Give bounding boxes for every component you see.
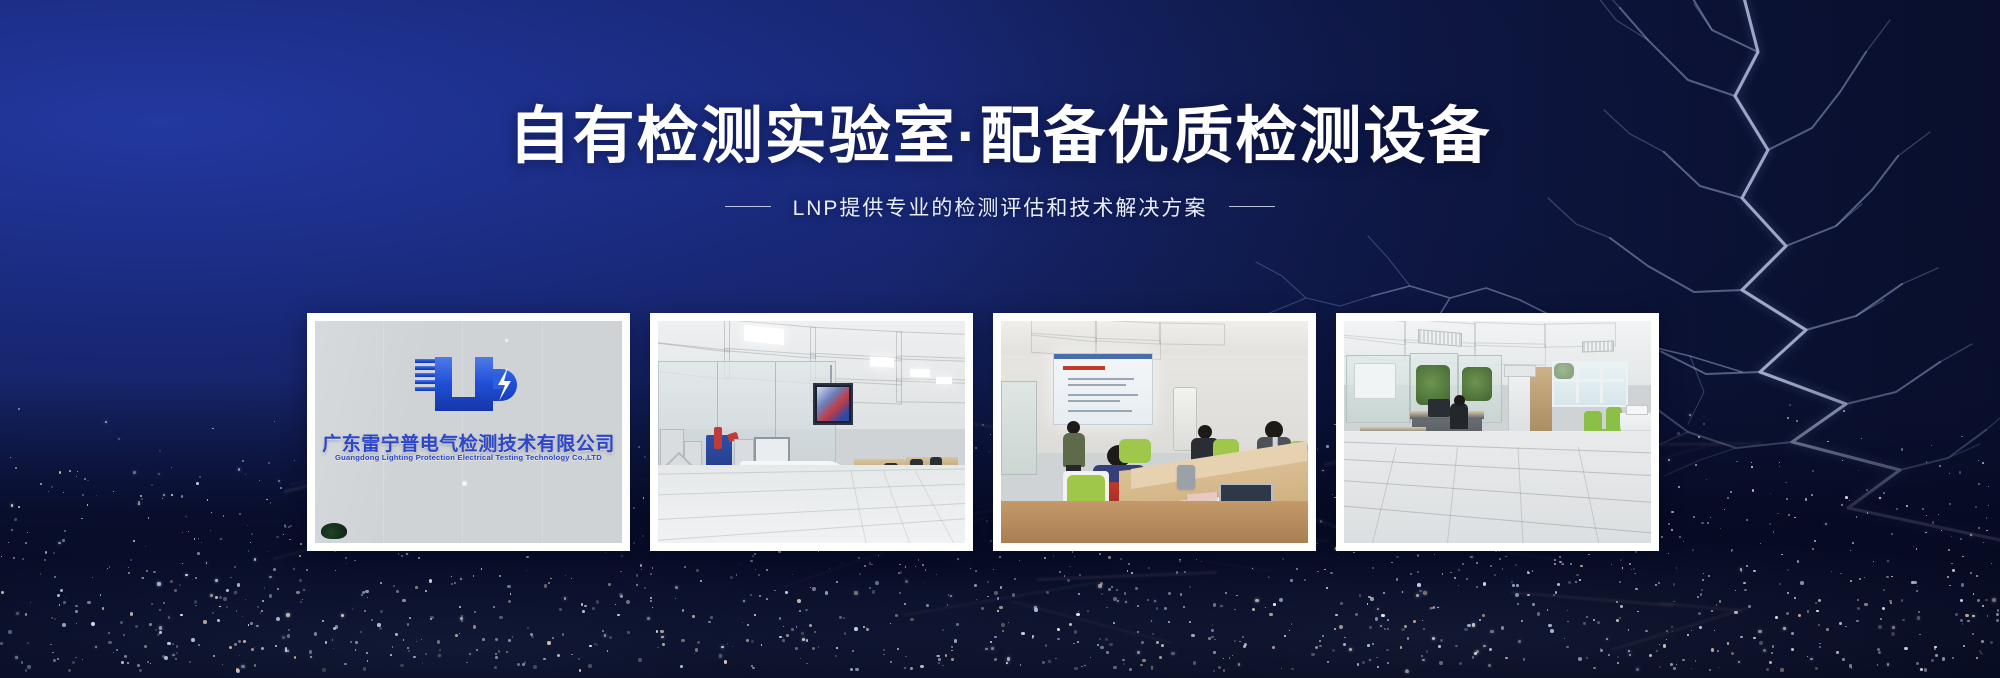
city-light-dot [1887, 560, 1889, 562]
city-light-dot [108, 641, 111, 644]
city-light-dot [75, 610, 78, 613]
city-light-dot [124, 655, 127, 658]
city-light-dot [185, 516, 187, 518]
city-light-dot [1279, 598, 1283, 602]
city-light-dot [1000, 586, 1003, 589]
city-light-dot [137, 664, 140, 667]
city-light-dot [1440, 639, 1443, 642]
city-light-dot [872, 590, 875, 593]
city-light-dot [1417, 583, 1421, 587]
city-light-dot [64, 530, 66, 532]
city-light-dot [1849, 664, 1853, 668]
city-light-dot [1433, 606, 1436, 609]
city-light-dot [1417, 554, 1420, 557]
city-light-dot [1788, 514, 1790, 516]
city-light-dot [956, 623, 959, 626]
city-light-dot [466, 662, 467, 663]
city-light-dot [1982, 605, 1984, 607]
city-light-dot [87, 480, 88, 481]
city-light-dot [974, 584, 977, 587]
city-light-dot [167, 642, 170, 645]
city-light-dot [1931, 659, 1934, 662]
city-light-dot [920, 665, 923, 668]
city-light-dot [1311, 653, 1314, 656]
city-light-dot [62, 623, 66, 627]
city-light-dot [1620, 559, 1622, 561]
city-light-dot [1189, 621, 1191, 623]
city-light-dot [182, 563, 184, 565]
city-light-dot [1002, 630, 1005, 633]
city-light-dot [750, 560, 752, 562]
city-light-dot [1459, 662, 1462, 665]
city-light-dot [517, 663, 520, 666]
city-light-dot [641, 569, 642, 570]
city-light-dot [1343, 643, 1346, 646]
city-light-dot [141, 498, 143, 500]
city-light-dot [159, 631, 162, 634]
city-light-dot [77, 471, 78, 472]
city-light-dot [159, 626, 162, 629]
city-light-dot [332, 639, 334, 641]
city-light-dot [1986, 530, 1988, 532]
city-light-dot [1008, 622, 1009, 623]
city-light-dot [795, 647, 798, 650]
city-light-dot [1891, 632, 1895, 636]
city-light-dot [1201, 561, 1202, 562]
city-light-dot [1845, 496, 1848, 499]
city-light-dot [107, 568, 108, 569]
city-light-dot [684, 566, 686, 568]
city-light-dot [814, 631, 816, 633]
tv-mount-arm [830, 365, 832, 385]
city-light-dot [1413, 620, 1416, 623]
city-light-dot [95, 646, 97, 648]
city-light-dot [100, 594, 102, 596]
city-light-dot [617, 614, 620, 617]
city-light-dot [1970, 572, 1972, 574]
city-light-dot [413, 656, 416, 659]
city-light-dot [1985, 599, 1987, 601]
city-light-dot [1272, 646, 1274, 648]
city-light-dot [1864, 577, 1865, 578]
city-light-dot [1580, 565, 1583, 568]
city-light-dot [1220, 605, 1222, 607]
city-light-dot [1852, 542, 1854, 544]
city-light-dot [1470, 556, 1472, 558]
city-light-dot [1826, 628, 1829, 631]
city-light-dot [957, 558, 959, 560]
city-light-dot [754, 614, 756, 616]
city-light-dot [1042, 661, 1045, 664]
city-light-dot [1867, 512, 1868, 513]
city-light-dot [1151, 668, 1153, 670]
city-light-dot [605, 552, 606, 553]
city-light-dot [1281, 668, 1283, 670]
city-light-dot [1691, 630, 1692, 631]
city-light-dot [1097, 644, 1099, 646]
city-light-dot [172, 643, 174, 645]
city-light-dot [174, 589, 176, 591]
city-light-dot [355, 649, 357, 651]
city-light-dot [219, 596, 222, 599]
city-light-dot [254, 558, 256, 560]
city-light-dot [1746, 565, 1748, 567]
city-light-dot [1120, 558, 1122, 560]
city-light-dot [1949, 585, 1951, 587]
city-light-dot [1716, 604, 1718, 606]
city-light-dot [65, 597, 66, 598]
city-light-dot [51, 486, 53, 488]
city-light-dot [176, 652, 178, 654]
city-light-dot [139, 669, 142, 672]
city-light-dot [82, 494, 84, 496]
city-light-dot [609, 636, 612, 639]
city-light-dot [1057, 638, 1060, 641]
city-light-dot [1291, 623, 1293, 625]
city-light-dot [379, 627, 382, 630]
city-light-dot [550, 578, 552, 580]
city-light-dot [1564, 638, 1565, 639]
city-light-dot [262, 600, 264, 602]
city-light-dot [904, 603, 906, 605]
city-light-dot [59, 471, 62, 474]
city-light-dot [1730, 491, 1732, 493]
city-light-dot [1934, 648, 1936, 650]
city-light-dot [1634, 573, 1635, 574]
city-light-dot [608, 583, 611, 586]
city-light-dot [774, 590, 776, 592]
city-light-dot [1020, 664, 1021, 665]
city-light-dot [1775, 616, 1779, 620]
city-light-dot [1140, 664, 1143, 667]
city-light-dot [1074, 556, 1075, 557]
city-light-dot [1877, 648, 1880, 651]
city-light-dot [1515, 593, 1519, 597]
city-light-dot [1142, 659, 1146, 663]
city-light-dot [1349, 648, 1352, 651]
gallery-card-office[interactable] [1336, 313, 1659, 551]
city-light-dot [562, 633, 565, 636]
city-light-dot [1559, 561, 1562, 564]
city-light-dot [779, 636, 781, 638]
city-light-dot [425, 653, 427, 655]
city-light-dot [1370, 597, 1374, 601]
city-light-dot [1255, 599, 1258, 602]
city-light-dot [213, 655, 215, 657]
city-light-dot [133, 540, 135, 542]
city-light-dot [1422, 620, 1424, 622]
city-light-dot [1376, 657, 1377, 658]
projector-screen [1053, 353, 1153, 425]
city-light-dot [588, 664, 592, 668]
city-light-dot [1763, 649, 1766, 652]
city-light-dot [1326, 587, 1328, 589]
city-light-dot [234, 591, 237, 594]
city-light-dot [1635, 588, 1637, 590]
city-light-dot [454, 582, 456, 584]
city-light-dot [947, 604, 948, 605]
city-light-dot [1074, 667, 1077, 670]
city-light-dot [1649, 654, 1652, 657]
city-light-dot [1818, 599, 1822, 603]
city-light-dot [288, 629, 290, 631]
city-light-dot [801, 632, 805, 636]
photo-laboratory [658, 321, 965, 543]
city-light-dot [1731, 652, 1735, 656]
city-light-dot [293, 568, 295, 570]
city-light-dot [1576, 574, 1579, 577]
city-light-dot [1490, 565, 1492, 567]
city-light-dot [1812, 548, 1814, 550]
city-light-dot [8, 542, 9, 543]
city-light-dot [836, 647, 839, 650]
city-light-dot [1007, 657, 1010, 660]
city-light-dot [473, 575, 474, 576]
city-light-dot [1125, 601, 1127, 603]
city-light-dot [168, 616, 170, 618]
city-light-dot [1012, 593, 1015, 596]
city-light-dot [75, 657, 77, 659]
city-light-dot [1265, 607, 1266, 608]
gallery-card-logo-wall[interactable]: 广东雷宁普电气检测技术有限公司 Guangdong Lighting Prote… [307, 313, 630, 551]
city-light-dot [844, 632, 846, 634]
city-light-dot [254, 664, 257, 667]
city-light-dot [1442, 573, 1444, 575]
photo-meeting-room [1001, 321, 1308, 543]
city-light-dot [1019, 560, 1020, 561]
city-light-dot [792, 574, 793, 575]
city-light-dot [602, 630, 604, 632]
city-light-dot [812, 647, 815, 650]
city-light-dot [878, 555, 879, 556]
city-light-dot [987, 596, 989, 598]
city-light-dot [1843, 410, 1845, 412]
city-light-dot [210, 530, 211, 531]
city-light-dot [1977, 599, 1980, 602]
city-light-dot [1825, 523, 1827, 525]
city-light-dot [508, 600, 511, 603]
city-light-dot [1789, 404, 1791, 406]
city-light-dot [905, 656, 907, 658]
city-light-dot [1619, 617, 1621, 619]
city-light-dot [256, 625, 258, 627]
city-light-dot [150, 663, 151, 664]
city-light-dot [1419, 590, 1422, 593]
city-light-dot [220, 538, 222, 540]
city-light-dot [215, 579, 218, 582]
city-light-dot [451, 583, 453, 585]
city-light-dot [636, 584, 638, 586]
city-light-dot [779, 617, 781, 619]
city-light-dot [751, 640, 755, 644]
desktop-monitor [1428, 399, 1450, 417]
city-light-dot [236, 610, 238, 612]
city-light-dot [1752, 489, 1755, 492]
city-light-dot [1841, 504, 1843, 506]
city-light-dot [1887, 663, 1889, 665]
city-light-dot [120, 621, 124, 625]
city-light-dot [854, 591, 858, 595]
city-light-dot [1557, 583, 1560, 586]
lnp-logo-icon [409, 351, 529, 417]
city-light-dot [750, 594, 752, 596]
city-light-dot [248, 624, 250, 626]
city-light-dot [352, 608, 353, 609]
city-light-dot [1229, 657, 1230, 658]
city-light-dot [198, 644, 200, 646]
city-light-dot [1698, 612, 1701, 615]
city-light-dot [1593, 667, 1595, 669]
city-light-dot [1896, 508, 1898, 510]
city-light-dot [650, 600, 652, 602]
city-light-dot [1736, 461, 1737, 462]
city-light-dot [159, 450, 161, 452]
city-light-dot [344, 663, 347, 666]
city-light-dot [582, 610, 585, 613]
city-light-dot [188, 531, 189, 532]
city-light-dot [584, 605, 587, 608]
city-light-dot [1141, 641, 1144, 644]
city-light-dot [526, 556, 529, 559]
city-light-dot [153, 571, 155, 573]
city-light-dot [564, 597, 567, 600]
door [1001, 381, 1037, 475]
city-light-dot [1796, 420, 1798, 422]
city-light-dot [1, 556, 2, 557]
city-light-dot [1317, 571, 1318, 572]
city-light-dot [1819, 643, 1820, 644]
city-light-dot [1562, 563, 1564, 565]
city-light-dot [890, 661, 892, 663]
city-light-dot [1659, 644, 1660, 645]
city-light-dot [854, 627, 858, 631]
city-light-dot [736, 574, 738, 576]
city-light-dot [1976, 657, 1978, 659]
city-light-dot [997, 610, 999, 612]
gallery-card-laboratory[interactable] [650, 313, 973, 551]
city-light-dot [1193, 661, 1196, 664]
city-light-dot [63, 601, 66, 604]
city-light-dot [1740, 636, 1743, 639]
city-light-dot [1087, 610, 1089, 612]
city-light-dot [1499, 558, 1501, 560]
city-light-dot [1439, 661, 1443, 665]
city-light-dot [499, 575, 501, 577]
city-light-dot [1916, 590, 1918, 592]
city-light-dot [1678, 486, 1680, 488]
city-light-dot [732, 646, 734, 648]
city-light-dot [1597, 621, 1600, 624]
city-light-dot [1566, 646, 1569, 649]
city-light-dot [1917, 586, 1918, 587]
city-light-dot [1746, 519, 1748, 521]
city-light-dot [1727, 497, 1729, 499]
city-light-dot [1913, 546, 1914, 547]
city-light-dot [1423, 628, 1426, 631]
city-light-dot [806, 639, 809, 642]
city-light-dot [1045, 644, 1048, 647]
city-light-dot [1668, 523, 1670, 525]
city-light-dot [459, 606, 461, 608]
city-light-dot [1273, 603, 1276, 606]
city-light-dot [1849, 500, 1850, 501]
city-light-dot [1213, 651, 1216, 654]
city-light-dot [1462, 563, 1464, 565]
city-light-dot [1628, 629, 1630, 631]
city-light-dot [571, 654, 573, 656]
city-light-dot [994, 591, 998, 595]
city-light-dot [16, 612, 19, 615]
city-light-dot [1911, 581, 1914, 584]
city-light-dot [1129, 668, 1132, 671]
city-light-dot [1606, 638, 1608, 640]
city-light-dot [1600, 649, 1603, 652]
city-light-dot [1067, 579, 1071, 583]
city-light-dot [1548, 624, 1551, 627]
city-light-dot [785, 591, 788, 594]
city-light-dot [238, 640, 241, 643]
gallery-card-meeting-room[interactable] [993, 313, 1316, 551]
cabinet [1508, 369, 1532, 435]
city-light-dot [392, 646, 393, 647]
city-light-dot [1211, 636, 1214, 639]
city-light-dot [105, 421, 107, 423]
city-light-dot [1727, 642, 1729, 644]
city-light-dot [890, 623, 892, 625]
city-light-dot [401, 555, 403, 557]
city-light-dot [809, 624, 812, 627]
city-light-dot [1502, 568, 1504, 570]
city-light-dot [1437, 607, 1439, 609]
city-light-dot [18, 506, 20, 508]
city-light-dot [915, 566, 916, 567]
city-light-dot [782, 639, 785, 642]
city-light-dot [1489, 648, 1492, 651]
city-light-dot [1081, 666, 1082, 667]
photo-gallery: 广东雷宁普电气检测技术有限公司 Guangdong Lighting Prote… [307, 313, 1659, 551]
city-light-dot [843, 617, 845, 619]
city-light-dot [302, 599, 304, 601]
city-light-dot [730, 576, 733, 579]
city-light-dot [1074, 630, 1078, 634]
city-light-dot [900, 571, 902, 573]
city-light-dot [799, 610, 801, 612]
city-light-dot [207, 499, 209, 501]
city-light-dot [211, 512, 212, 513]
city-light-dot [1683, 541, 1684, 542]
city-light-dot [1904, 647, 1908, 651]
city-light-dot [1176, 571, 1178, 573]
city-light-dot [1982, 654, 1983, 655]
city-light-dot [506, 651, 508, 653]
city-light-dot [1515, 564, 1517, 566]
city-light-dot [75, 605, 78, 608]
city-light-dot [1700, 593, 1703, 596]
city-light-dot [835, 655, 837, 657]
city-light-dot [1124, 592, 1126, 594]
city-light-dot [226, 606, 228, 608]
city-light-dot [662, 643, 665, 646]
city-light-dot [18, 408, 20, 410]
city-light-dot [92, 577, 93, 578]
city-light-dot [802, 638, 805, 641]
city-light-dot [192, 579, 193, 580]
city-light-dot [147, 661, 149, 663]
city-light-dot [51, 617, 53, 619]
city-light-dot [1983, 542, 1984, 543]
city-light-dot [1072, 551, 1073, 552]
city-light-dot [1521, 620, 1523, 622]
